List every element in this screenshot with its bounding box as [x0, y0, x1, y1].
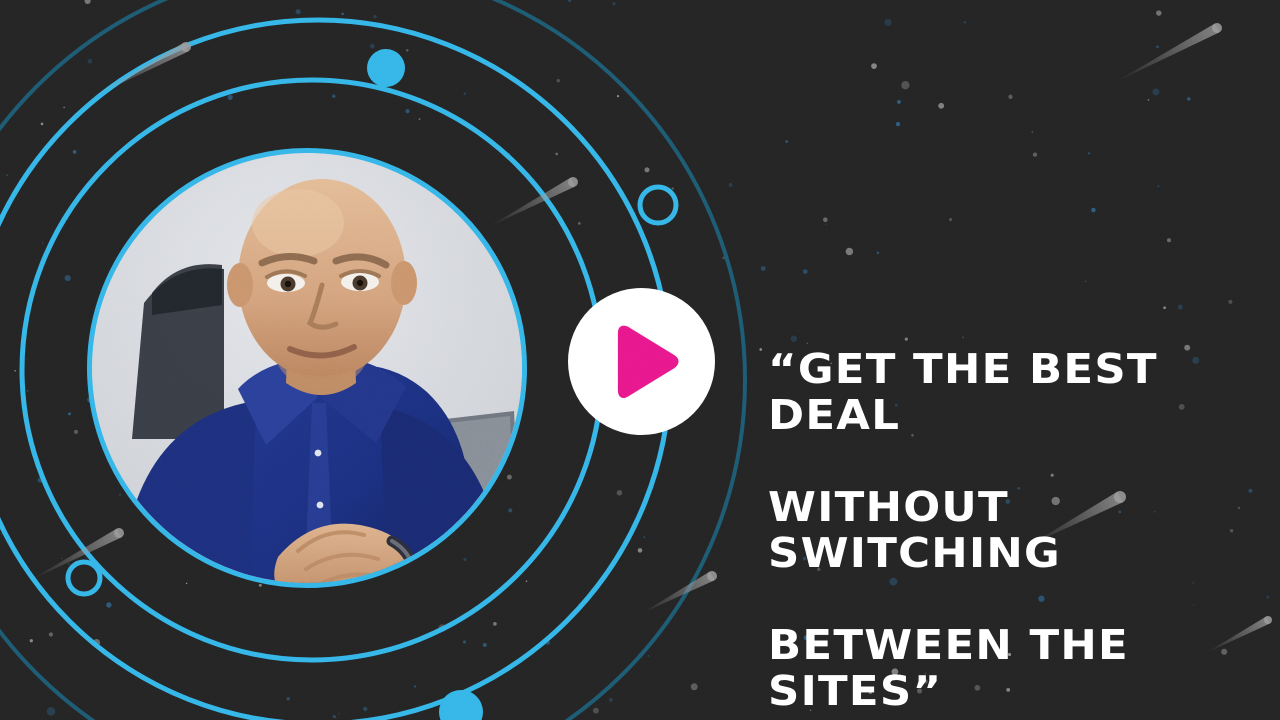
comet-mid-center-head — [568, 177, 578, 187]
slide-canvas: “GET THE BEST DEAL WITHOUT SWITCHING BET… — [0, 0, 1280, 720]
comet-top-left-head — [181, 42, 191, 52]
quote-text: “GET THE BEST DEAL WITHOUT SWITCHING BET… — [768, 300, 1280, 720]
comet-bottom-center-head — [707, 571, 717, 581]
speaker-portrait-image — [92, 153, 522, 583]
comet-top-right-tail — [1115, 24, 1219, 82]
avatar — [87, 148, 527, 588]
play-triangle-icon — [609, 325, 683, 399]
play-button[interactable] — [568, 288, 715, 435]
quote-line-1: “GET THE BEST DEAL — [768, 346, 1280, 438]
speaker-portrait-illustration — [92, 153, 522, 583]
comet-top-left-tail — [89, 43, 188, 99]
comet-mid-left-head — [114, 528, 124, 538]
comet-bottom-center-tail — [641, 572, 714, 614]
quote-line-3: BETWEEN THE SITES” — [768, 622, 1280, 714]
comet-mid-left-tail — [31, 529, 122, 580]
quote-line-2: WITHOUT SWITCHING — [768, 484, 1280, 576]
comet-top-right-head — [1212, 23, 1222, 33]
comet-mid-center-tail — [489, 178, 575, 227]
